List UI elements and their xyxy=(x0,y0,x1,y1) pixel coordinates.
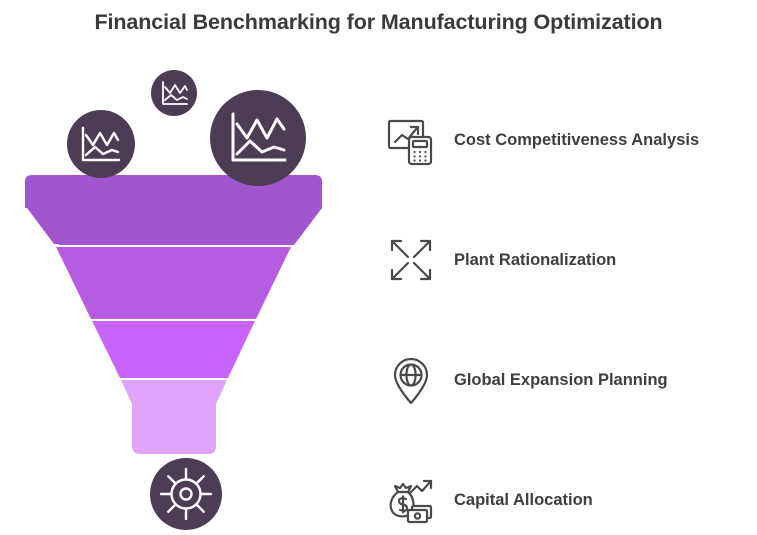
funnel-stage-4 xyxy=(121,380,227,454)
feature-item-cost-competitiveness-analysis[interactable]: Cost Competitiveness Analysis xyxy=(380,105,757,175)
badge-circle xyxy=(67,110,135,178)
feature-label: Cost Competitiveness Analysis xyxy=(454,130,699,150)
funnel-svg xyxy=(0,55,375,531)
feature-item-plant-rationalization[interactable]: Plant Rationalization xyxy=(380,225,757,295)
feature-label: Capital Allocation xyxy=(454,490,593,510)
money-growth-icon xyxy=(380,469,442,531)
expand-arrows-icon xyxy=(380,229,442,291)
page-title: Financial Benchmarking for Manufacturing… xyxy=(0,8,757,36)
badge-circle xyxy=(210,90,306,186)
feature-label: Global Expansion Planning xyxy=(454,370,668,390)
badge-circle xyxy=(151,70,197,116)
chart-calculator-icon xyxy=(380,109,442,171)
funnel-badge-bottom xyxy=(150,458,222,530)
funnel-diagram xyxy=(0,55,375,531)
funnel-stage-group xyxy=(25,175,322,454)
feature-item-global-expansion-planning[interactable]: Global Expansion Planning xyxy=(380,345,757,415)
feature-item-capital-allocation[interactable]: Capital Allocation xyxy=(380,465,757,535)
globe-pin-icon xyxy=(380,349,442,411)
funnel-stage-3 xyxy=(92,321,255,378)
feature-list: Cost Competitiveness Analysis Plant Rati… xyxy=(380,95,757,531)
funnel-stage-1-taper xyxy=(27,208,320,244)
funnel-badge-left xyxy=(67,110,135,178)
funnel-badge-right xyxy=(210,90,306,186)
funnel-stage-2 xyxy=(56,247,291,319)
feature-label: Plant Rationalization xyxy=(454,250,616,270)
funnel-badge-center xyxy=(151,70,197,116)
